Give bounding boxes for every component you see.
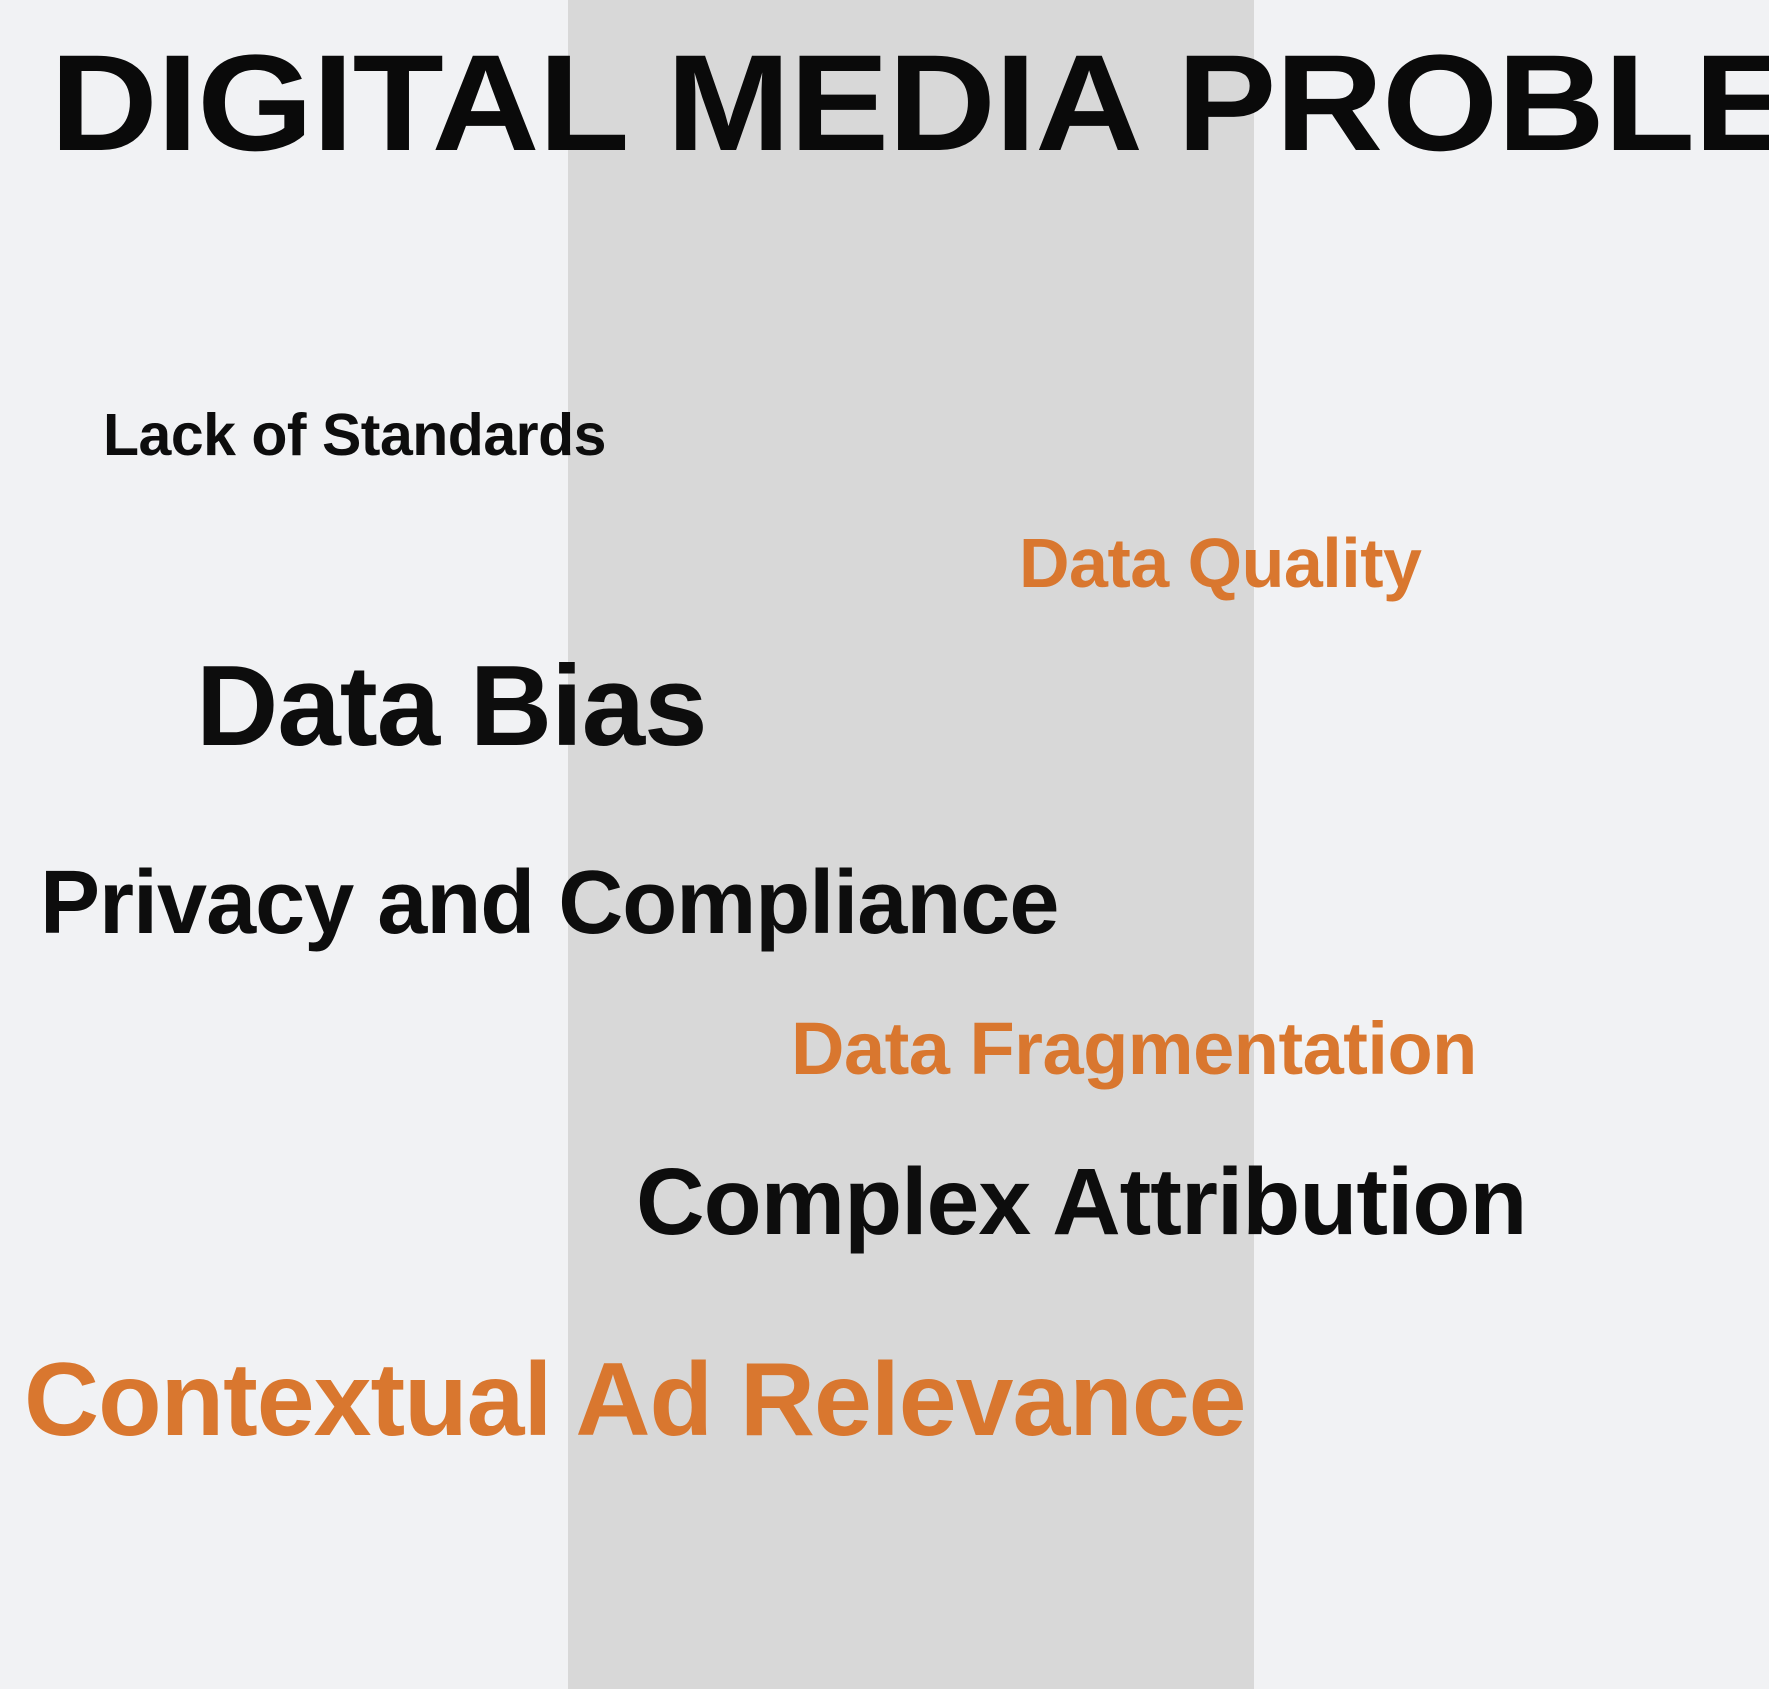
word-cloud-term-data-fragmentation: Data Fragmentation	[791, 1012, 1477, 1086]
page-title: DIGITAL MEDIA PROBLEM	[50, 34, 1769, 174]
word-cloud-term-data-quality: Data Quality	[1019, 528, 1421, 598]
word-cloud-term-complex-attribution: Complex Attribution	[636, 1155, 1526, 1250]
word-cloud-term-contextual-ad-relevance: Contextual Ad Relevance	[24, 1348, 1246, 1452]
word-cloud-term-privacy-and-compliance: Privacy and Compliance	[40, 858, 1058, 948]
poster-canvas: DIGITAL MEDIA PROBLEM Lack of Standards …	[0, 0, 1769, 1689]
word-cloud-term-lack-of-standards: Lack of Standards	[103, 406, 606, 465]
word-cloud-term-data-bias: Data Bias	[196, 650, 707, 764]
